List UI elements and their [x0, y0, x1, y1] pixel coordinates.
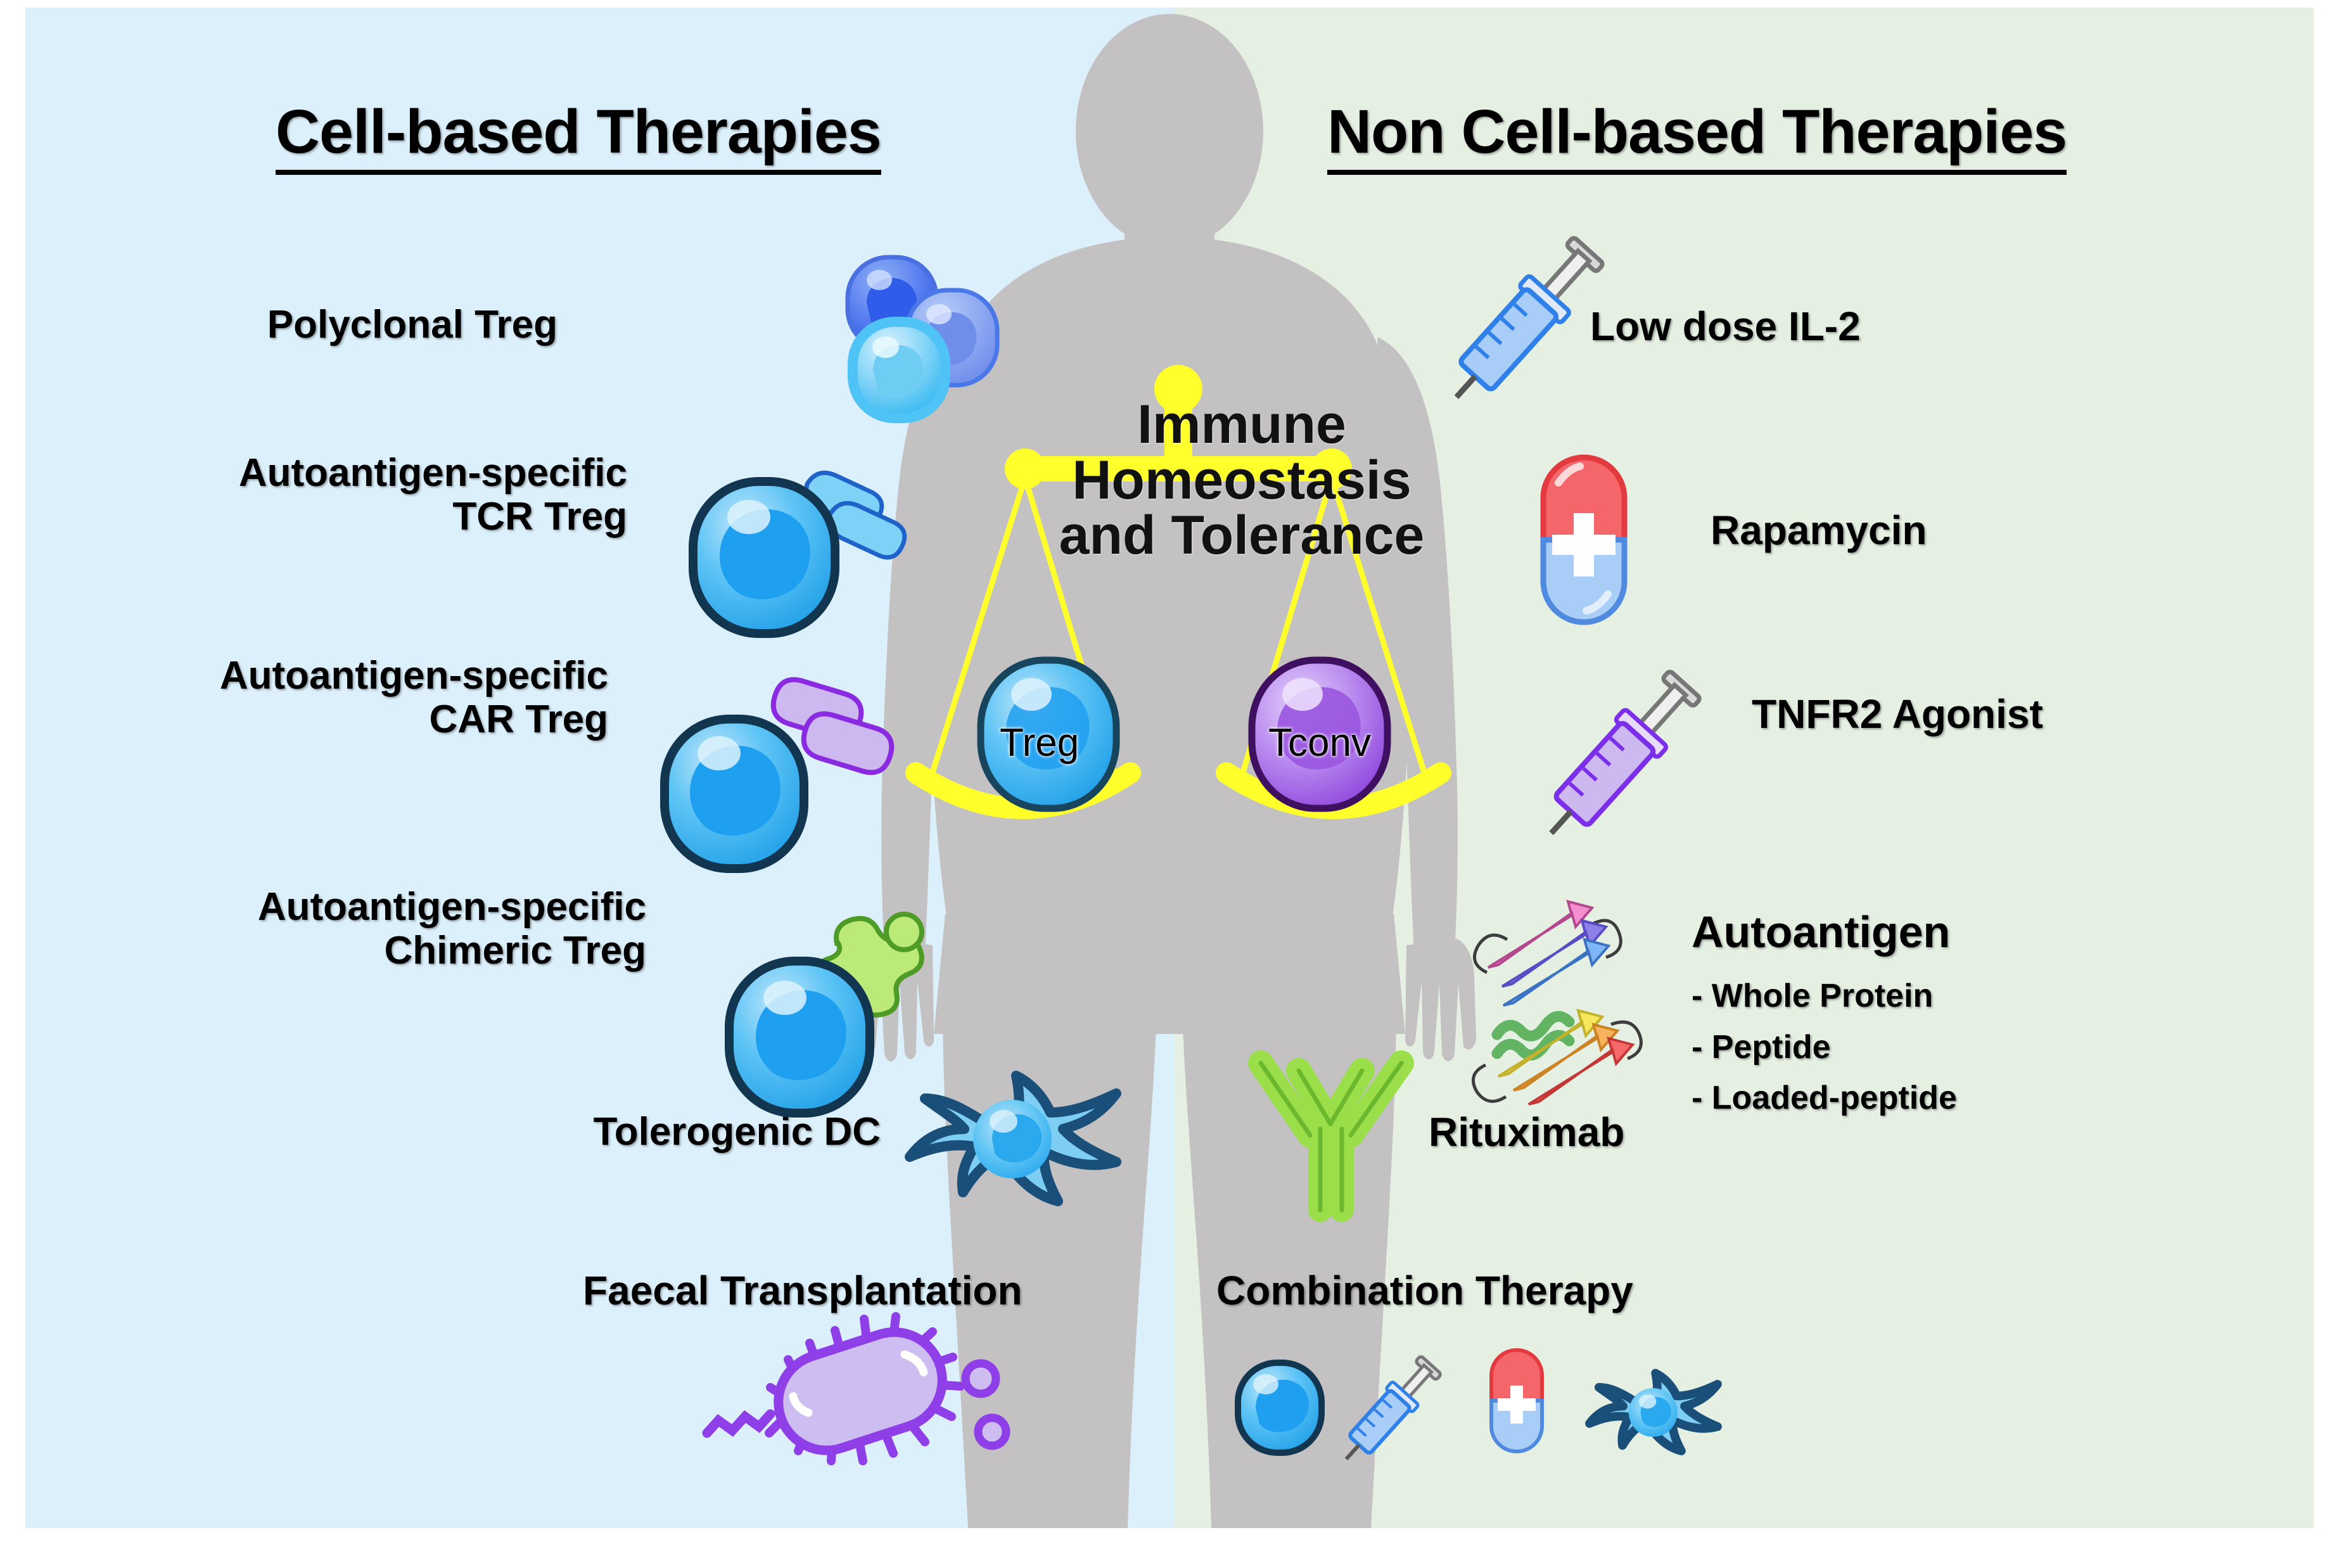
label-autoantigen: Autoantigen: [1692, 907, 1950, 957]
right-section-title: Non Cell-based Therapies: [1327, 96, 2067, 175]
label-chimeric-treg-line1: Autoantigen-specific: [82, 885, 646, 929]
label-tcr-treg-line2: TCR Treg: [63, 495, 627, 539]
antibody-green-icon: [1235, 1040, 1425, 1237]
label-tnfr2-agonist: TNFR2 Agonist: [1752, 692, 2043, 737]
autoantigen-sublist: - Whole Protein - Peptide - Loaded-pepti…: [1692, 971, 1957, 1124]
label-rituximab: Rituximab: [1429, 1110, 1624, 1156]
dendritic-cell-icon: [868, 1047, 1166, 1230]
treg-cell-cluster-icon: [806, 248, 1002, 438]
center-line-1: Immune: [1014, 397, 1470, 453]
label-car-treg-line2: CAR Treg: [44, 698, 608, 741]
left-section-title: Cell-based Therapies: [276, 96, 881, 175]
capsule-pill-icon: [1527, 445, 1641, 635]
label-car-treg: Autoantigen-specific CAR Treg: [44, 654, 608, 742]
label-polyclonal-treg: Polyclonal Treg: [158, 303, 558, 347]
treg-pan-label: Treg: [1000, 720, 1079, 765]
label-combination-therapy: Combination Therapy: [1216, 1268, 1633, 1314]
protein-ribbon-icon: [1454, 898, 1650, 1107]
label-chimeric-treg-line2: Chimeric Treg: [82, 929, 646, 972]
label-tcr-treg: Autoantigen-specific TCR Treg: [63, 451, 627, 539]
tconv-pan-label: Tconv: [1268, 720, 1371, 765]
label-low-dose-il2: Low dose IL-2: [1590, 304, 1861, 350]
syringe-blue-icon: [1442, 220, 1607, 423]
treg-cell-with-tcr-icon: [672, 432, 925, 660]
treg-cell-with-car-icon: [656, 644, 915, 872]
label-chimeric-treg: Autoantigen-specific Chimeric Treg: [82, 885, 646, 973]
autoantigen-sublist-item: - Loaded-peptide: [1692, 1073, 1957, 1124]
combination-icons-icon: [1229, 1310, 1711, 1512]
label-car-treg-line1: Autoantigen-specific: [44, 654, 608, 698]
autoantigen-sublist-item: - Whole Protein: [1692, 971, 1957, 1022]
bacteria-icon: [653, 1300, 1007, 1509]
center-balance-caption: Immune Homeostasis and Tolerance: [1014, 397, 1470, 564]
center-line-2: Homeostasis: [1014, 453, 1470, 509]
syringe-purple-icon: [1533, 654, 1704, 863]
label-tcr-treg-line1: Autoantigen-specific: [63, 451, 627, 495]
autoantigen-sublist-item: - Peptide: [1692, 1022, 1957, 1073]
figure-canvas: Treg Tconv Immune Homeostasis and Tolera…: [25, 8, 2314, 1528]
label-rapamycin: Rapamycin: [1711, 508, 1927, 554]
center-line-3: and Tolerance: [1014, 508, 1470, 564]
